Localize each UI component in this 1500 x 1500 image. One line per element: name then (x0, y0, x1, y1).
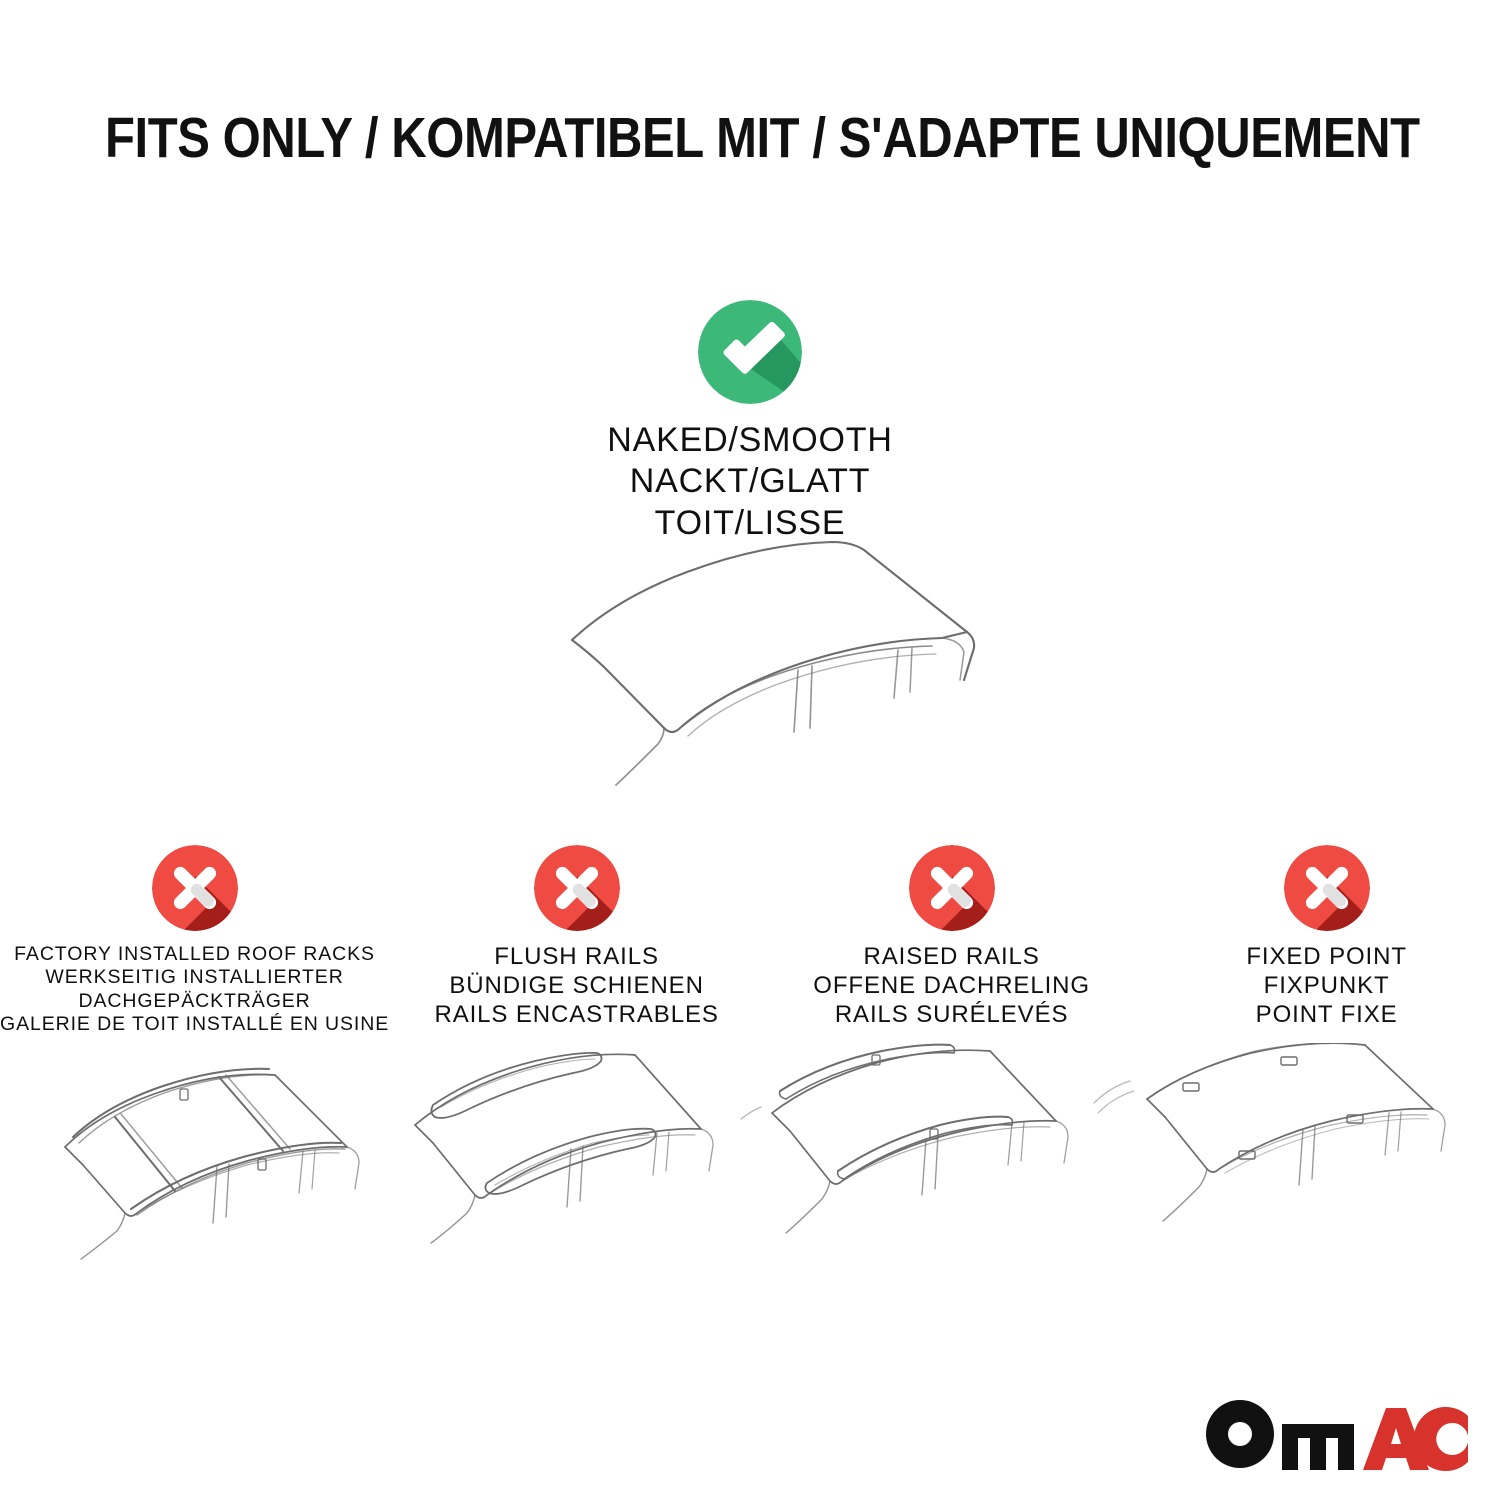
label-line-3: DACHGEPÄCKTRÄGER (0, 990, 389, 1013)
label-line-2: BÜNDIGE SCHIENEN (434, 972, 718, 1001)
label-line-1: FLUSH RAILS (434, 943, 718, 972)
compatible-section: NAKED/SMOOTH NACKT/GLATT TOIT/LISSE (0, 300, 1500, 544)
factory-roof-rack-illustration (7, 1051, 382, 1261)
label-line-1: FACTORY INSTALLED ROOF RACKS (0, 943, 389, 966)
compatible-label-line-2: NACKT/GLATT (607, 461, 892, 502)
label-line-1: FIXED POINT (1246, 943, 1407, 972)
page-title: FITS ONLY / KOMPATIBEL MIT / S'ADAPTE UN… (105, 105, 1395, 171)
compatible-label-line-1: NAKED/SMOOTH (607, 420, 892, 461)
label-line-2: OFFENE DACHRELING (813, 972, 1090, 1001)
cross-circle-icon (534, 845, 620, 931)
incompatible-item-factory-installed-roof-racks: FACTORY INSTALLED ROOF RACKS WERKSEITIG … (0, 845, 389, 1261)
incompatible-item-flush-rails: FLUSH RAILS BÜNDIGE SCHIENEN RAILS ENCAS… (389, 845, 764, 1261)
incompatible-label-fixed-point: FIXED POINT FIXPUNKT POINT FIXE (1246, 943, 1407, 1029)
incompatible-label-factory-installed-roof-racks: FACTORY INSTALLED ROOF RACKS WERKSEITIG … (0, 943, 389, 1037)
label-line-1: RAISED RAILS (813, 943, 1090, 972)
incompatible-item-raised-rails: RAISED RAILS OFFENE DACHRELING RAILS SUR… (764, 845, 1139, 1261)
label-line-3: POINT FIXE (1246, 1001, 1407, 1030)
raised-rails-illustration (764, 1043, 1139, 1253)
incompatible-label-raised-rails: RAISED RAILS OFFENE DACHRELING RAILS SUR… (813, 943, 1090, 1029)
cross-circle-icon (909, 845, 995, 931)
cross-circle-icon (152, 845, 238, 931)
flush-rails-illustration (389, 1043, 764, 1253)
incompatible-item-fixed-point: FIXED POINT FIXPUNKT POINT FIXE (1139, 845, 1500, 1261)
naked-smooth-roof-illustration (512, 520, 1012, 790)
label-line-2: WERKSEITIG INSTALLIERTER (0, 966, 389, 989)
omac-logo (1200, 1394, 1470, 1478)
label-line-2: FIXPUNKT (1246, 972, 1407, 1001)
incompatible-label-flush-rails: FLUSH RAILS BÜNDIGE SCHIENEN RAILS ENCAS… (434, 943, 718, 1029)
fixed-point-illustration (1139, 1043, 1500, 1253)
label-line-3: RAILS ENCASTRABLES (434, 1001, 718, 1030)
check-circle-icon (698, 300, 802, 404)
cross-circle-icon (1284, 845, 1370, 931)
label-line-4: GALERIE DE TOIT INSTALLÉ EN USINE (0, 1013, 389, 1036)
incompatible-section: FACTORY INSTALLED ROOF RACKS WERKSEITIG … (0, 845, 1500, 1261)
label-line-3: RAILS SURÉLEVÉS (813, 1001, 1090, 1030)
